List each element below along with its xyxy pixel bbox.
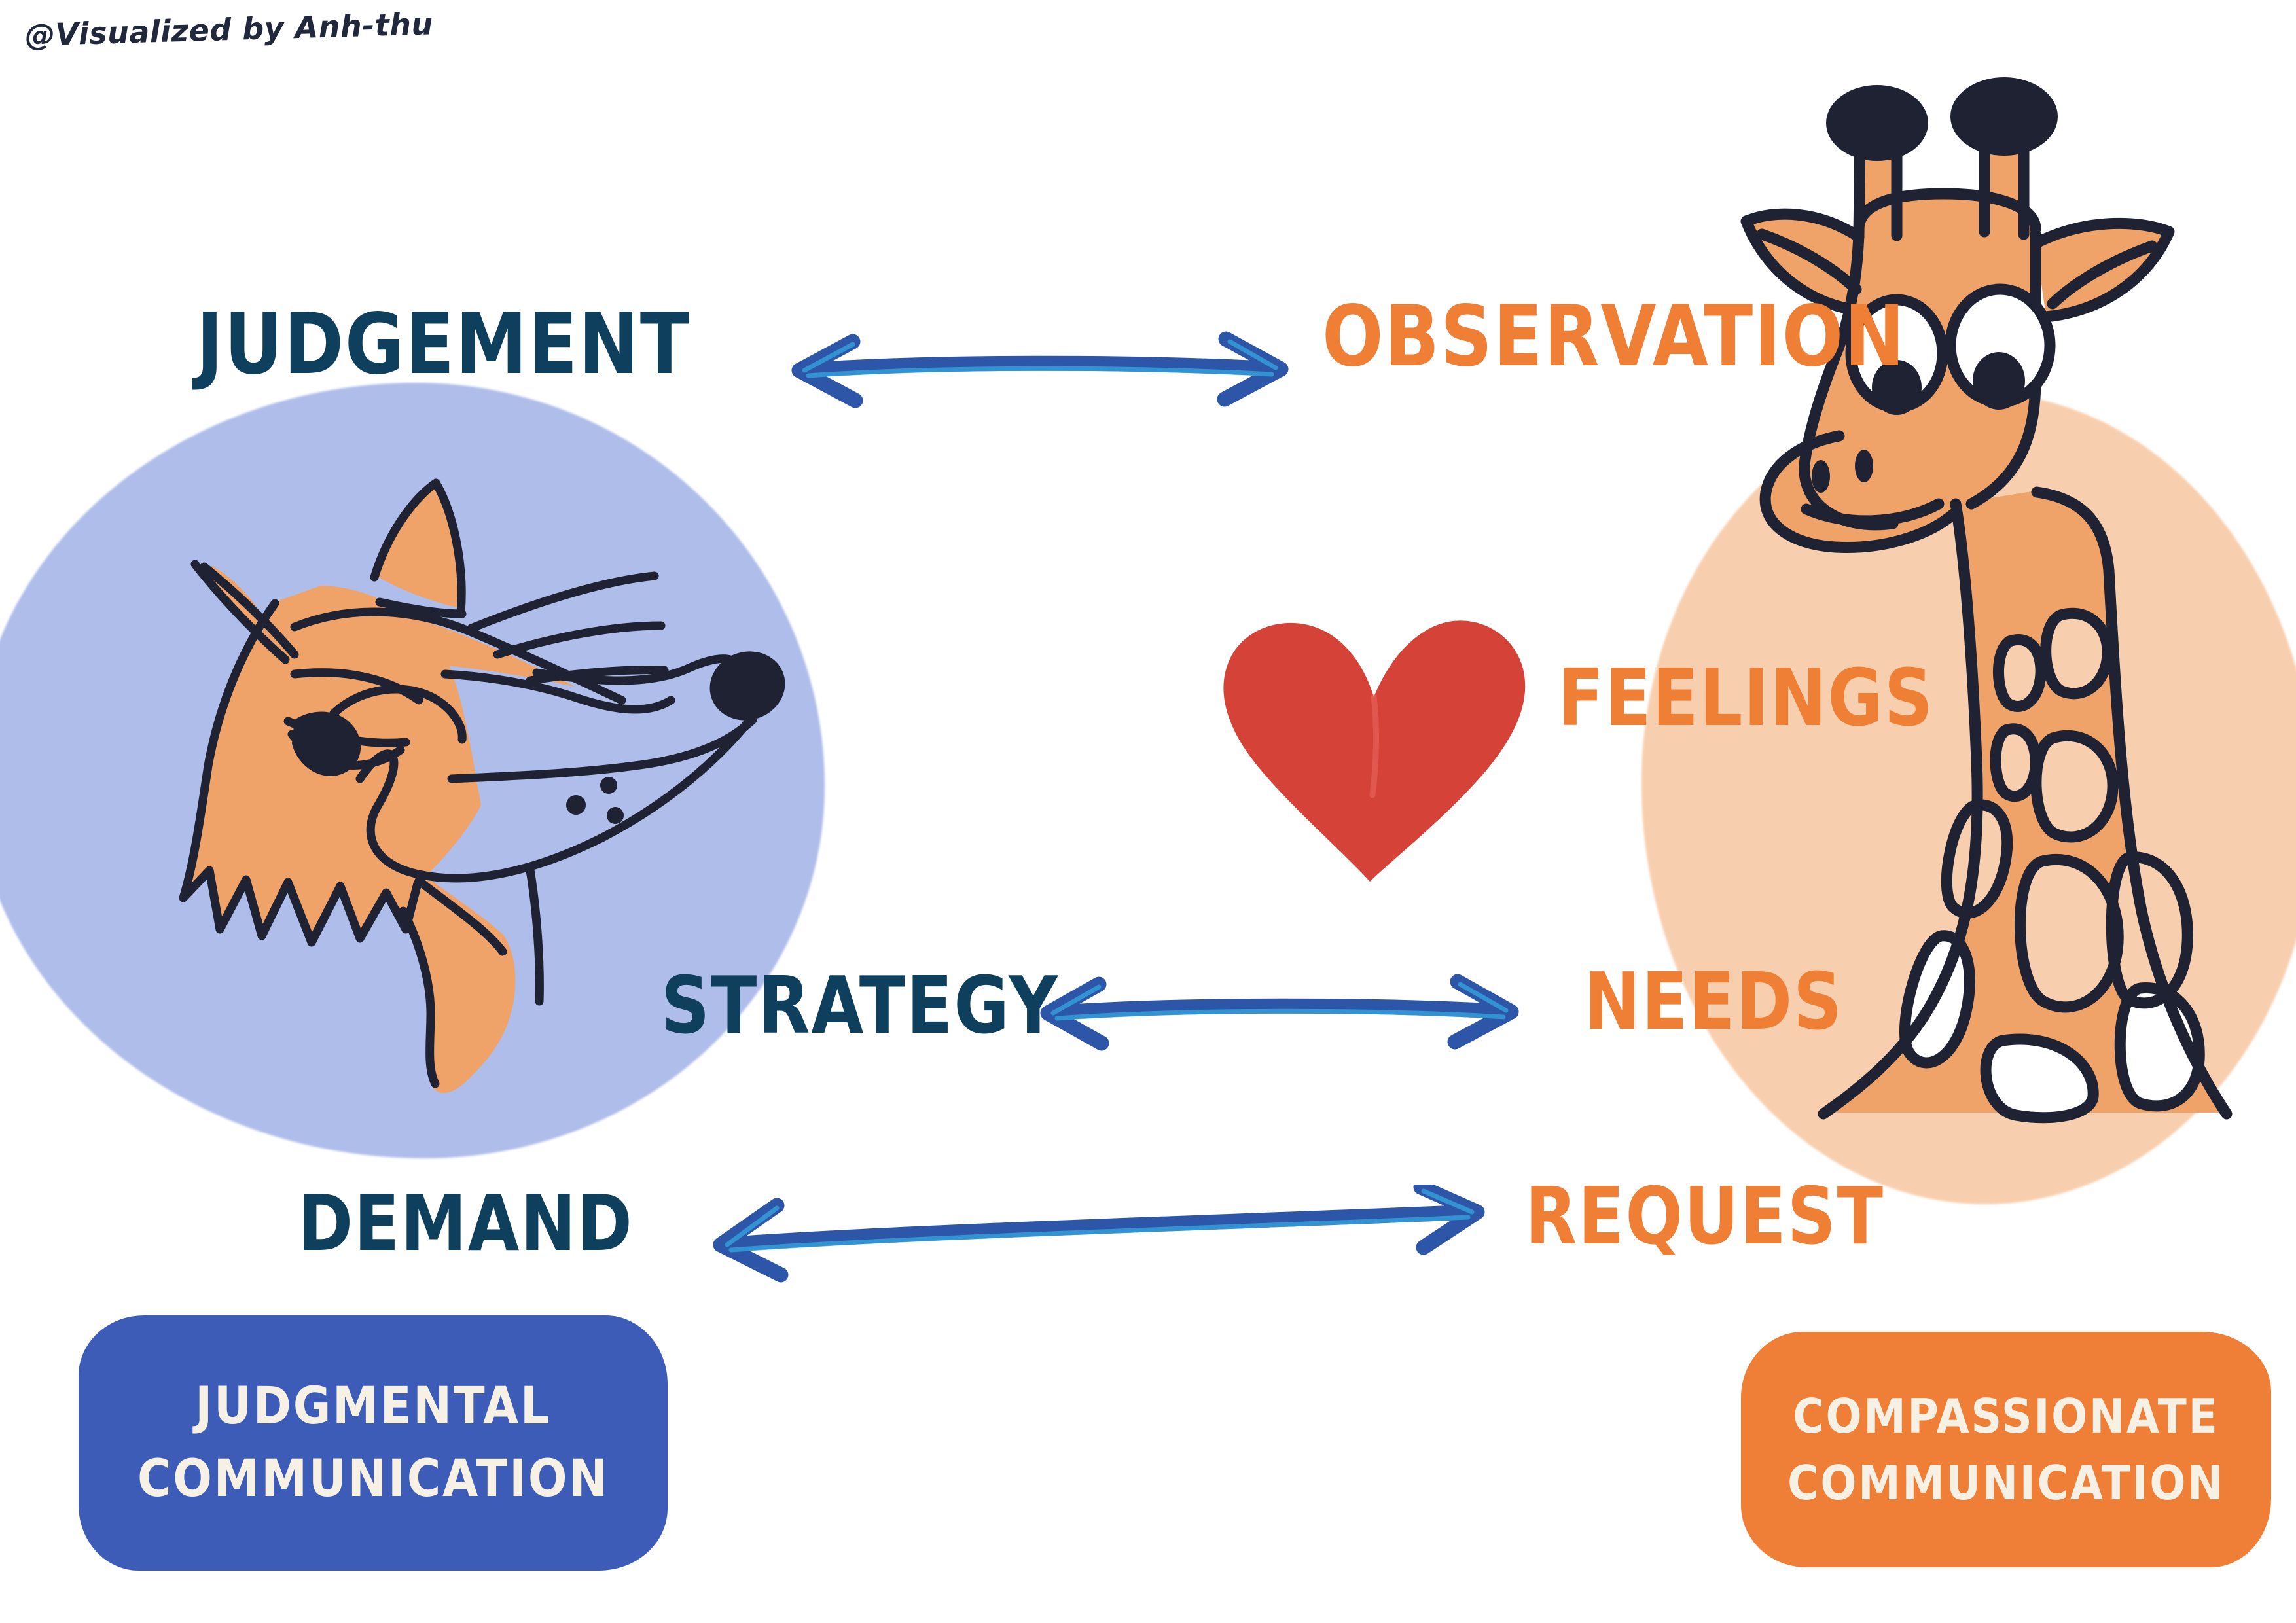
badge-compassionate-communication: COMPASSIONATE COMMUNICATION (1741, 1332, 2271, 1567)
arrow-strategy-needs (1031, 969, 1528, 1054)
label-judgement: JUDGEMENT (196, 296, 691, 393)
label-needs: NEEDS (1584, 957, 1843, 1048)
badge-left-line1: JUDGMENTAL (195, 1370, 551, 1443)
badge-judgmental-communication: JUDGMENTAL COMMUNICATION (79, 1315, 668, 1571)
label-strategy: STRATEGY (661, 961, 1059, 1052)
poster-canvas: @Visualized by Anh-thu (0, 0, 2296, 1623)
label-observation: OBSERVATION (1322, 288, 1906, 385)
label-request: REQUEST (1525, 1171, 1884, 1262)
badge-right-line1: COMPASSIONATE (1793, 1383, 2219, 1450)
arrow-judgement-observation (782, 327, 1299, 412)
label-feelings: FEELINGS (1558, 653, 1934, 744)
arrow-demand-request (704, 1185, 1496, 1283)
label-demand: DEMAND (298, 1178, 634, 1268)
attribution-credit: @Visualized by Anh-thu (24, 6, 433, 52)
heart-icon (1214, 599, 1535, 893)
badge-left-line2: COMMUNICATION (137, 1443, 609, 1516)
badge-right-line2: COMMUNICATION (1787, 1450, 2225, 1516)
